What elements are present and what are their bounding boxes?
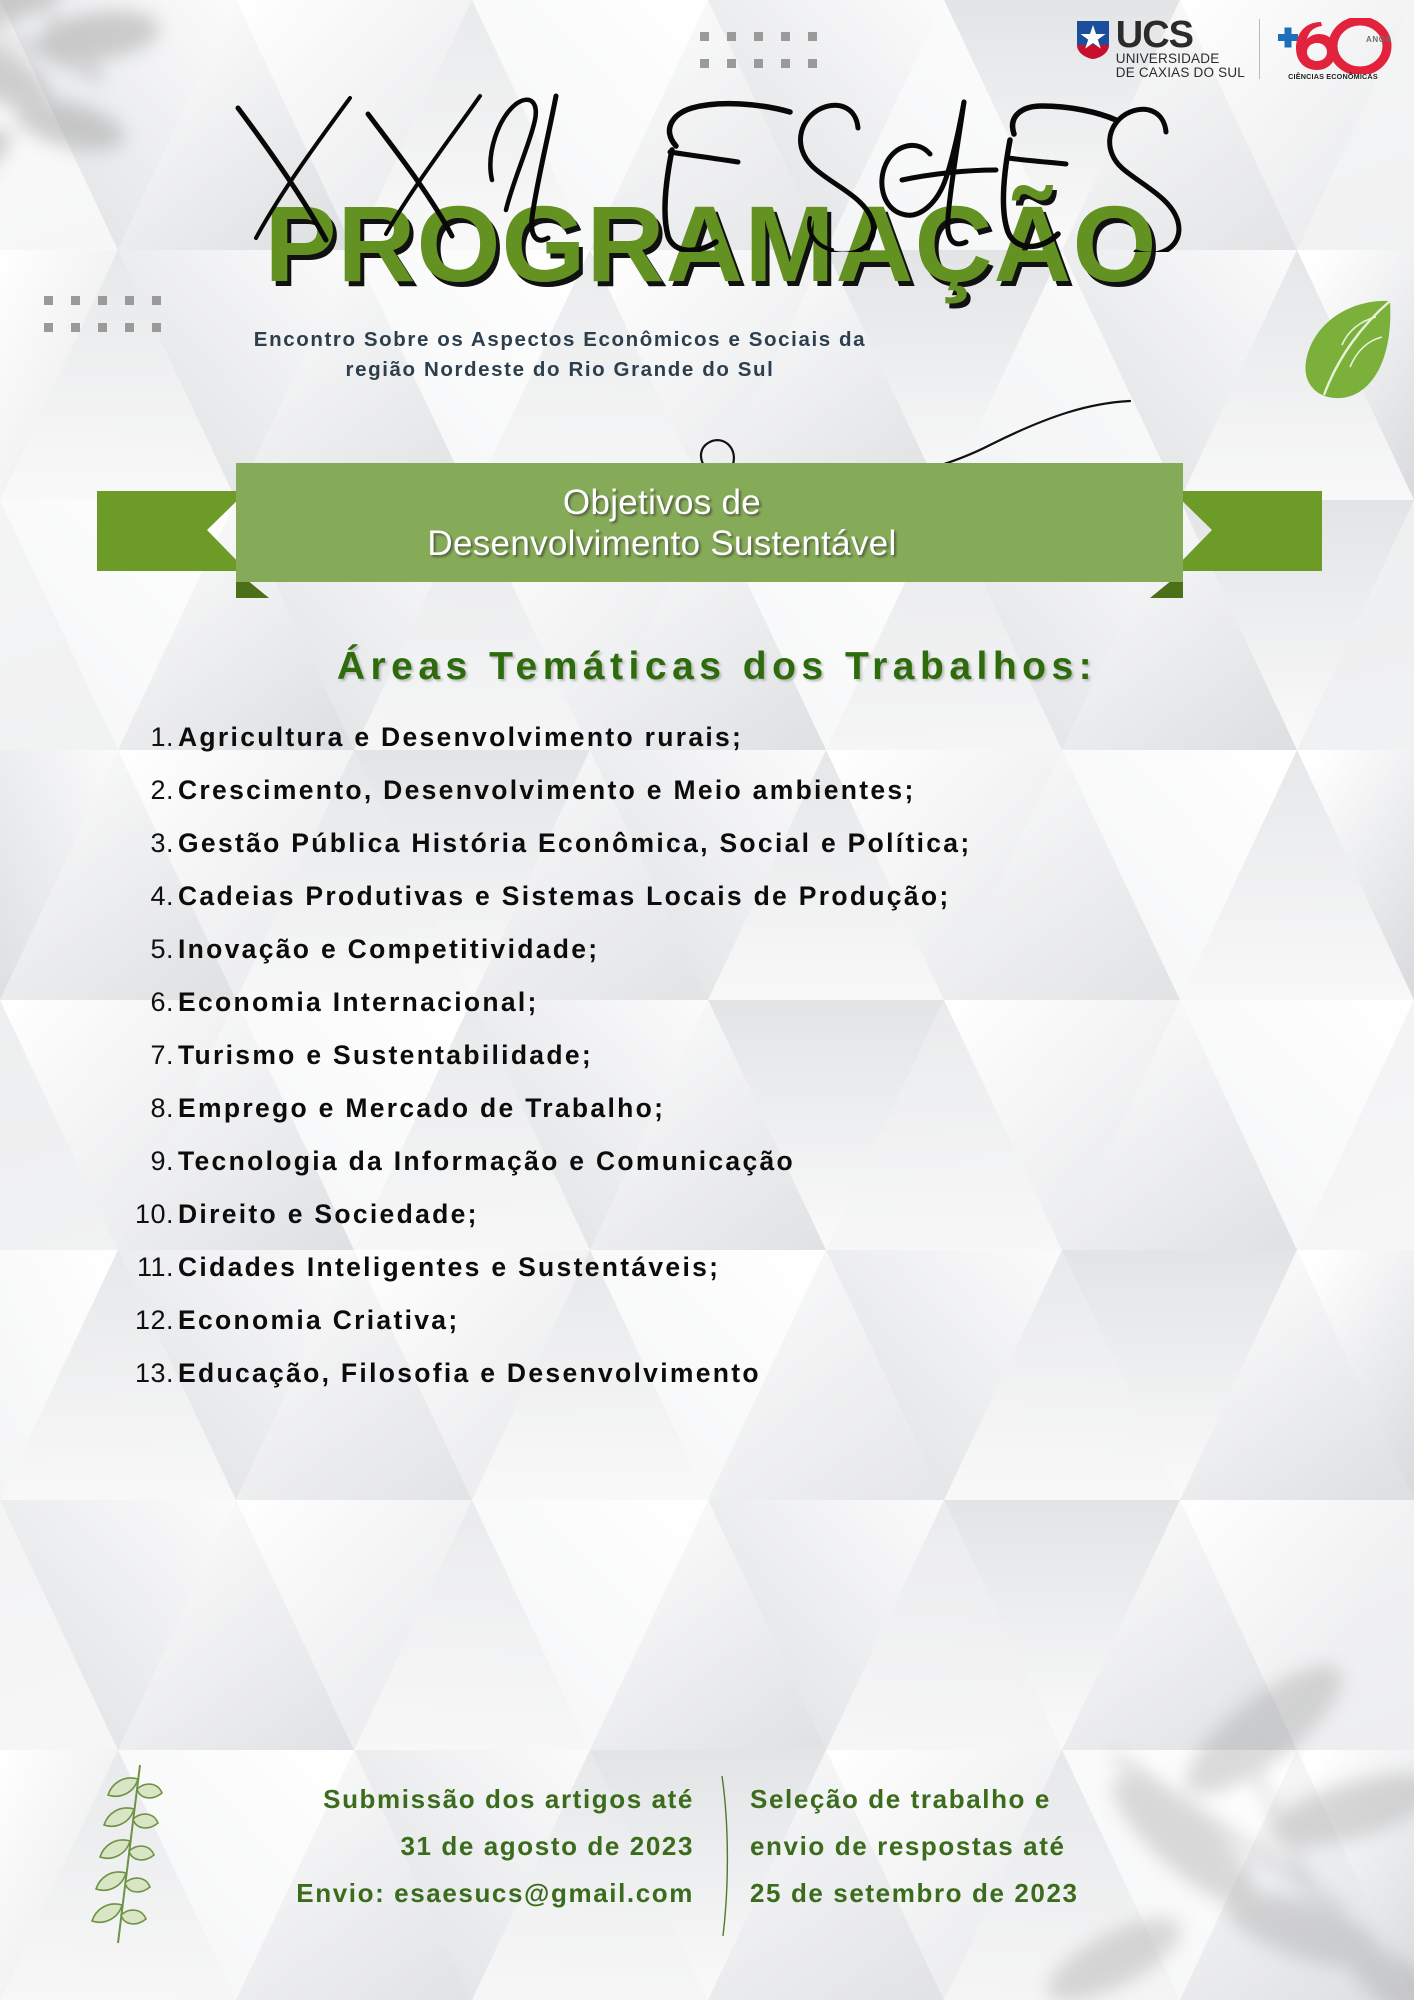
ucs-acronym: UCS (1116, 18, 1193, 52)
list-item: 11. Cidades Inteligentes e Sustentáveis; (112, 1248, 1172, 1286)
list-item-label: Tecnologia da Informação e Comunicação (178, 1142, 795, 1180)
list-item-number: 13. (112, 1354, 178, 1392)
list-item-number: 6. (112, 983, 178, 1021)
list-item: 13. Educação, Filosofia e Desenvolviment… (112, 1354, 1172, 1392)
footer: Submissão dos artigos até 31 de agosto d… (0, 1776, 1414, 1936)
section-heading: Áreas Temáticas dos Trabalhos: (0, 645, 1414, 689)
list-item-label: Educação, Filosofia e Desenvolvimento (178, 1354, 761, 1392)
list-item-number: 7. (112, 1036, 178, 1074)
ucs-line1: UNIVERSIDADE (1116, 52, 1220, 66)
ribbon-banner: Objetivos de Desenvolvimento Sustentável (97, 463, 1322, 598)
ribbon-line-1: Objetivos de (427, 482, 896, 523)
list-item-number: 3. (112, 824, 178, 862)
logo-group: UCS UNIVERSIDADE DE CAXIAS DO SUL ANOS C… (1076, 18, 1392, 80)
sixty-years-icon: ANOS (1274, 18, 1392, 74)
page-title: PROGRAMAÇÃO (0, 188, 1414, 300)
footer-right-line-2: envio de respostas até (750, 1823, 1220, 1870)
list-item-number: 2. (112, 771, 178, 809)
ucs-logo-texts: UCS UNIVERSIDADE DE CAXIAS DO SUL (1116, 18, 1245, 80)
anniversary-caption: CIÊNCIAS ECONÔMICAS (1274, 72, 1392, 81)
anniversary-logo: ANOS CIÊNCIAS ECONÔMICAS (1274, 18, 1392, 80)
list-item-label: Inovação e Competitividade; (178, 930, 599, 968)
footer-left-line-2: 31 de agosto de 2023 (194, 1823, 694, 1870)
list-item: 7. Turismo e Sustentabilidade; (112, 1036, 1172, 1074)
list-item: 12. Economia Criativa; (112, 1301, 1172, 1339)
list-item-number: 1. (112, 718, 178, 756)
poster-root: UCS UNIVERSIDADE DE CAXIAS DO SUL ANOS C… (0, 0, 1414, 2000)
list-item: 3. Gestão Pública História Econômica, So… (112, 824, 1172, 862)
list-item-label: Cadeias Produtivas e Sistemas Locais de … (178, 877, 951, 915)
subtitle-line-2: região Nordeste do Rio Grande do Sul (170, 355, 950, 385)
list-item: 9. Tecnologia da Informação e Comunicaçã… (112, 1142, 1172, 1180)
thematic-areas-list: 1. Agricultura e Desenvolvimento rurais;… (112, 718, 1172, 1407)
list-item-number: 8. (112, 1089, 178, 1127)
dot-decoration-top-right (700, 32, 817, 68)
list-item: 8. Emprego e Mercado de Trabalho; (112, 1089, 1172, 1127)
list-item-label: Gestão Pública História Econômica, Socia… (178, 824, 971, 862)
footer-submission-column: Submissão dos artigos até 31 de agosto d… (194, 1776, 720, 1936)
footer-selection-column: Seleção de trabalho e envio de respostas… (722, 1776, 1220, 1936)
poster-subtitle: Encontro Sobre os Aspectos Econômicos e … (170, 325, 950, 385)
list-item-label: Crescimento, Desenvolvimento e Meio ambi… (178, 771, 916, 809)
list-item-number: 5. (112, 930, 178, 968)
list-item-label: Direito e Sociedade; (178, 1195, 479, 1233)
list-item-number: 4. (112, 877, 178, 915)
ribbon-line-2: Desenvolvimento Sustentável (427, 523, 896, 564)
list-item: 5. Inovação e Competitividade; (112, 930, 1172, 968)
footer-divider (720, 1776, 722, 1936)
ucs-line2: DE CAXIAS DO SUL (1116, 66, 1245, 80)
list-item-label: Turismo e Sustentabilidade; (178, 1036, 593, 1074)
list-item-number: 11. (112, 1248, 178, 1286)
ucs-shield-star-icon (1076, 20, 1110, 60)
footer-left-line-3[interactable]: Envio: esaesucs@gmail.com (194, 1870, 694, 1917)
list-item-label: Economia Criativa; (178, 1301, 459, 1339)
footer-divider-curve (720, 1776, 730, 1936)
footer-left-line-1: Submissão dos artigos até (194, 1776, 694, 1823)
list-item-label: Emprego e Mercado de Trabalho; (178, 1089, 665, 1127)
dot-decoration-left (44, 296, 161, 332)
list-item: 4. Cadeias Produtivas e Sistemas Locais … (112, 877, 1172, 915)
list-item-number: 9. (112, 1142, 178, 1180)
list-item-number: 12. (112, 1301, 178, 1339)
list-item: 6. Economia Internacional; (112, 983, 1172, 1021)
list-item-number: 10. (112, 1195, 178, 1233)
list-item: 1. Agricultura e Desenvolvimento rurais; (112, 718, 1172, 756)
svg-text:ANOS: ANOS (1366, 35, 1392, 44)
footer-right-line-1: Seleção de trabalho e (750, 1776, 1220, 1823)
list-item-label: Cidades Inteligentes e Sustentáveis; (178, 1248, 720, 1286)
list-item-label: Economia Internacional; (178, 983, 539, 1021)
footer-right-line-3: 25 de setembro de 2023 (750, 1870, 1220, 1917)
logo-divider (1259, 19, 1260, 79)
list-item-label: Agricultura e Desenvolvimento rurais; (178, 718, 743, 756)
subtitle-line-1: Encontro Sobre os Aspectos Econômicos e … (170, 325, 950, 355)
list-item: 10. Direito e Sociedade; (112, 1195, 1172, 1233)
ucs-logo: UCS UNIVERSIDADE DE CAXIAS DO SUL (1076, 18, 1245, 80)
list-item: 2. Crescimento, Desenvolvimento e Meio a… (112, 771, 1172, 809)
green-leaf-icon (1290, 295, 1400, 405)
ribbon-text: Objetivos de Desenvolvimento Sustentável (333, 463, 991, 582)
